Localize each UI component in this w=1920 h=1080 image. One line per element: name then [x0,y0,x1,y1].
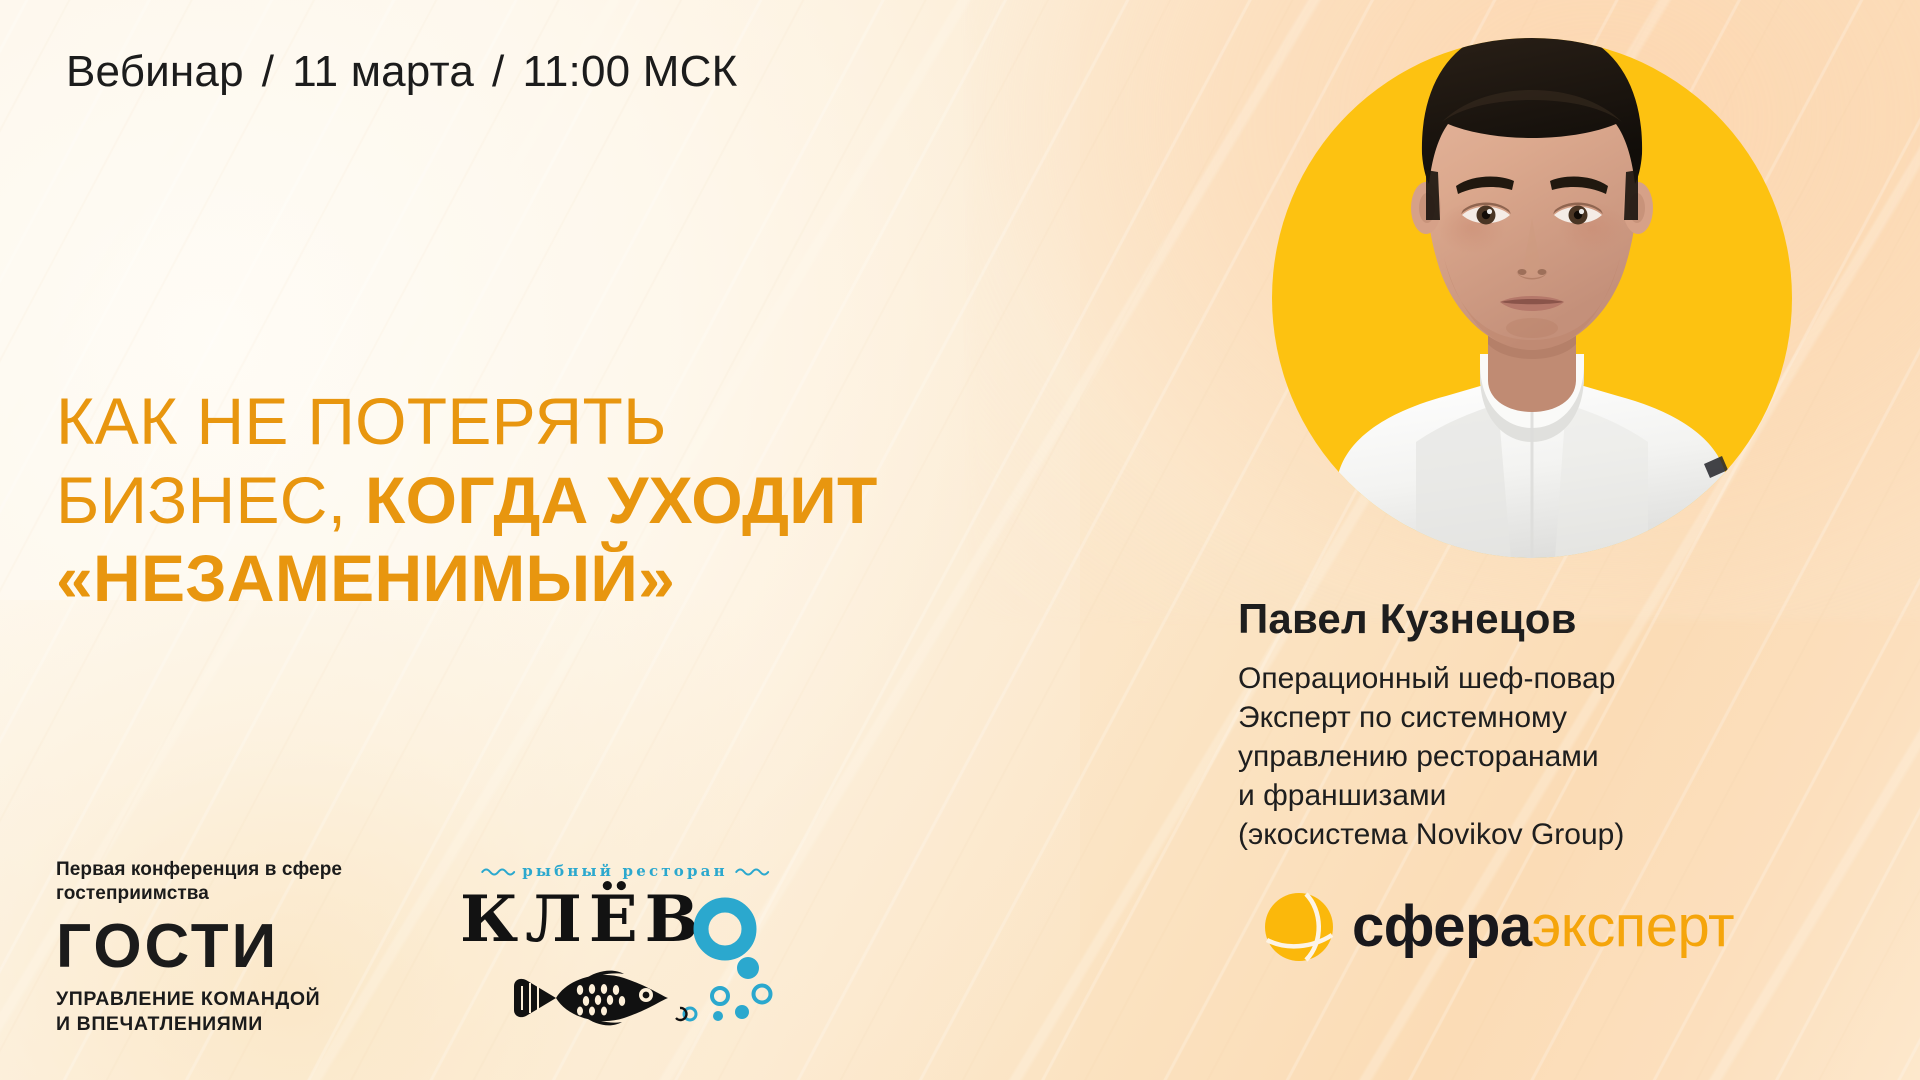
gosti-subtitle-line-2: И ВПЕЧАТЛЕНИЯМИ [56,1012,342,1037]
headline-line-2-thin: БИЗНЕС, [56,463,346,537]
sphere-icon [1262,890,1336,964]
headline-line-2: БИЗНЕС, КОГДА УХОДИТ [56,461,1106,540]
page-title: КАК НЕ ПОТЕРЯТЬ БИЗНЕС, КОГДА УХОДИТ «НЕ… [56,382,1106,618]
speaker-portrait-illustration [1266,0,1798,572]
gosti-subtitle: УПРАВЛЕНИЕ КОМАНДОЙ И ВПЕЧАТЛЕНИЯМИ [56,987,342,1038]
headline-line-2-bold: КОГДА УХОДИТ [365,463,878,537]
wave-left-icon [481,865,515,877]
klevo-tagline-row: рыбный ресторан [481,862,769,880]
gosti-subtitle-line-1: УПРАВЛЕНИЕ КОМАНДОЙ [56,987,342,1012]
speaker-bio-line-1: Операционный шеф-повар [1238,659,1798,698]
speaker-bio: Операционный шеф-повар Эксперт по систем… [1238,659,1798,854]
headline-line-1-text: КАК НЕ ПОТЕРЯТЬ [56,384,667,458]
sfera-wordmark: сфераэксперт [1352,898,1734,956]
speaker-bio-line-3: управлению ресторанами [1238,737,1798,776]
event-time-label: 11:00 МСК [522,47,737,97]
meta-separator-2: / [474,47,522,97]
speaker-bio-line-5: (экосистема Novikov Group) [1238,815,1798,854]
gosti-tagline-line-1: Первая конференция в сфере [56,858,342,882]
bubbles-icon [646,954,776,1030]
headline-line-3: «НЕЗАМЕНИМЫЙ» [56,539,1106,618]
sfera-word-sfera: сфера [1352,894,1532,959]
sfera-word-expert: эксперт [1532,894,1734,959]
webinar-banner: Вебинар / 11 марта / 11:00 МСК КАК НЕ ПО… [0,0,1920,1080]
speaker-name: Павел Кузнецов [1238,595,1798,643]
klevo-wordmark: КЛЁВ [460,888,706,952]
event-type-label: Вебинар [66,47,244,97]
klevo-restaurant-logo: рыбный ресторан КЛЁВ [460,862,790,1032]
meta-separator-1: / [244,47,292,97]
headline-line-3-bold: «НЕЗАМЕНИМЫЙ» [56,541,675,615]
klevo-letter-o-ring-icon [692,896,758,962]
gosti-tagline-line-2: гостеприимства [56,882,342,906]
gosti-conference-logo: Первая конференция в сфере гостеприимств… [56,858,342,1037]
event-date-label: 11 марта [292,47,474,97]
gosti-wordmark: ГОСТИ [56,916,342,978]
sfera-expert-logo: сфераэксперт [1262,890,1734,964]
speaker-bio-line-2: Эксперт по системному [1238,698,1798,737]
gosti-tagline: Первая конференция в сфере гостеприимств… [56,858,342,907]
event-meta-line: Вебинар / 11 марта / 11:00 МСК [66,47,737,97]
speaker-info: Павел Кузнецов Операционный шеф-повар Эк… [1238,595,1798,854]
speaker-bio-line-4: и франшизами [1238,776,1798,815]
speaker-portrait [1272,38,1792,558]
headline-line-1: КАК НЕ ПОТЕРЯТЬ [56,382,1106,461]
wave-right-icon [735,865,769,877]
klevo-tagline: рыбный ресторан [522,862,728,880]
